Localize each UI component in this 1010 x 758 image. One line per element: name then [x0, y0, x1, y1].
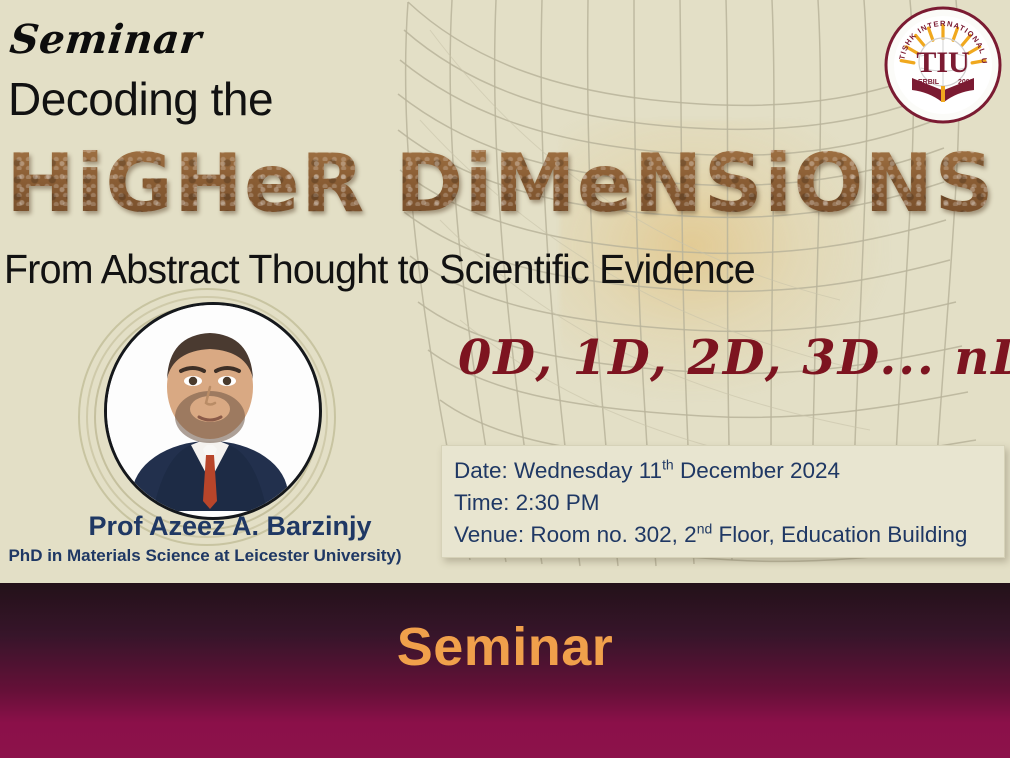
university-logo: TIU ERBIL 2008 TISHK INTERNATIONAL UNIVE… [884, 6, 1002, 124]
speaker-name: Prof Azeez A. Barzinjy [40, 511, 420, 542]
seminar-poster: Seminar Decoding the HiGHeR DiMeNSiONS F… [0, 0, 1010, 758]
detail-venue-value-pre: Room no. 302, 2 [524, 522, 697, 547]
speaker-credentials: PhD in Materials Science at Leicester Un… [0, 546, 410, 566]
banner-title: Seminar [0, 616, 1010, 678]
detail-time-value: 2:30 PM [509, 490, 599, 515]
detail-date-value-pre: Wednesday 11 [508, 458, 662, 483]
bottom-banner: Seminar [0, 583, 1010, 758]
detail-date-ordinal: th [662, 457, 674, 473]
detail-date-label: Date: [454, 458, 508, 483]
headline-subtitle: From Abstract Thought to Scientific Evid… [4, 246, 755, 293]
dimension-sequence-text: 0D, 1D, 2D, 3D... nD [458, 330, 1010, 386]
detail-time: Time: 2:30 PM [454, 487, 1004, 519]
kicker-seminar: Seminar [8, 16, 204, 63]
detail-date: Date: Wednesday 11th December 2024 [454, 455, 1004, 487]
speaker-portrait-photo [104, 302, 322, 520]
detail-venue-value-post: Floor, Education Building [712, 522, 967, 547]
logo-acronym: TIU [916, 46, 969, 79]
headline-decoding: Decoding the [8, 76, 273, 122]
detail-venue-label: Venue: [454, 522, 524, 547]
event-details-box: Date: Wednesday 11th December 2024 Time:… [441, 445, 1005, 558]
logo-city: ERBIL [918, 79, 940, 86]
detail-venue: Venue: Room no. 302, 2nd Floor, Educatio… [454, 519, 1004, 551]
detail-date-value-post: December 2024 [674, 458, 840, 483]
detail-time-label: Time: [454, 490, 509, 515]
headline-higher-dimensions: HiGHeR DiMeNSiONS [6, 134, 1010, 234]
logo-year: 2008 [958, 79, 974, 86]
detail-venue-ordinal: nd [697, 521, 713, 537]
